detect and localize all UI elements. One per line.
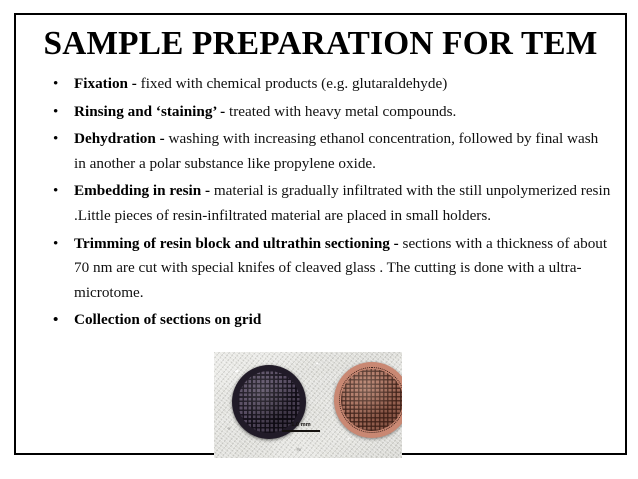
list-item: • Embedding in resin - material is gradu… <box>36 179 613 228</box>
bullet-marker: • <box>53 127 65 152</box>
slide: SAMPLE PREPARATION FOR TEM • Fixation - … <box>0 0 638 479</box>
list-item-lead: Trimming of resin block and ultrathin se… <box>74 235 403 252</box>
bullet-list: • Fixation - fixed with chemical product… <box>36 72 613 336</box>
scale-bar-line <box>282 430 320 432</box>
list-item: • Fixation - fixed with chemical product… <box>36 72 613 97</box>
copper-tem-grid-icon <box>334 362 402 438</box>
list-item: • Rinsing and ‘staining’ - treated with … <box>36 100 613 125</box>
list-item-lead: Fixation - <box>74 75 141 92</box>
bullet-marker: • <box>53 72 65 97</box>
bullet-marker: • <box>53 100 65 125</box>
slide-border-frame: SAMPLE PREPARATION FOR TEM • Fixation - … <box>14 13 627 455</box>
bullet-marker: • <box>53 179 65 204</box>
list-item-lead: Dehydration - <box>74 130 169 147</box>
list-item-text: fixed with chemical products (e.g. gluta… <box>141 75 448 92</box>
bullet-marker: • <box>53 232 65 257</box>
page-title: SAMPLE PREPARATION FOR TEM <box>24 25 617 63</box>
list-item: • Dehydration - washing with increasing … <box>36 127 613 176</box>
list-item-lead: Collection of sections on grid <box>74 311 261 328</box>
list-item: • Collection of sections on grid <box>36 308 613 333</box>
list-item: • Trimming of resin block and ultrathin … <box>36 232 613 306</box>
tem-grids-photograph: 1.0 mm <box>214 352 402 458</box>
copper-grid-rim-dots <box>339 367 402 433</box>
list-item-lead: Rinsing and ‘staining’ - <box>74 103 229 120</box>
scale-bar-label: 1.0 mm <box>282 422 320 429</box>
bullet-marker: • <box>53 308 65 333</box>
list-item-lead: Embedding in resin - <box>74 182 214 199</box>
scale-bar: 1.0 mm <box>282 422 320 432</box>
list-item-text: treated with heavy metal compounds. <box>229 103 456 120</box>
